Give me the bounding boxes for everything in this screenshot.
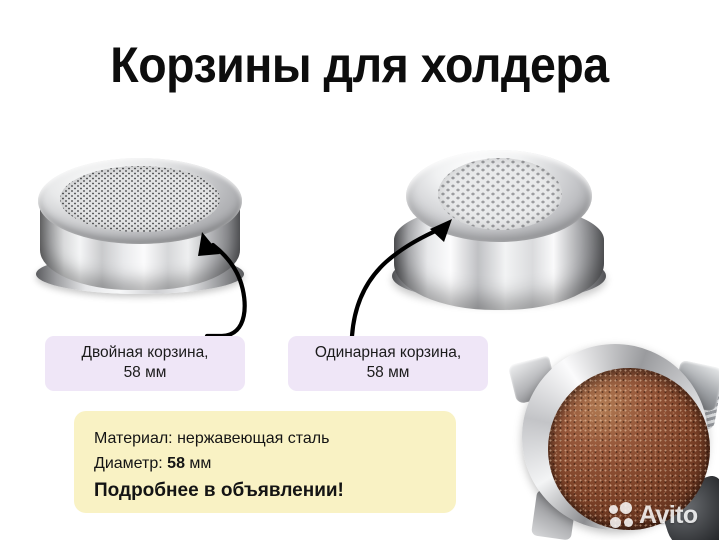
- page-title: Корзины для холдера: [25, 36, 694, 94]
- info-cta-text: Подробнее в объявлении!: [94, 477, 456, 505]
- avito-watermark: Avito: [609, 500, 713, 532]
- callout-single-line2: 58 мм: [300, 363, 476, 383]
- info-diameter-unit: мм: [189, 455, 211, 472]
- info-diameter-value: 58: [167, 455, 185, 472]
- callout-double-basket: Двойная корзина, 58 мм: [45, 336, 245, 391]
- product-listing-image: Корзины для холдера Двойная корзина, 58 …: [0, 0, 719, 540]
- info-diameter-row: Диаметр: 58 мм: [94, 451, 456, 476]
- avito-watermark-text: Avito: [639, 500, 698, 530]
- info-card: Материал: нержавеющая сталь Диаметр: 58 …: [74, 411, 456, 513]
- info-material-row: Материал: нержавеющая сталь: [94, 426, 456, 451]
- callout-single-basket: Одинарная корзина, 58 мм: [288, 336, 488, 391]
- info-material-value: нержавеющая сталь: [177, 430, 329, 447]
- info-diameter-label: Диаметр:: [94, 455, 163, 472]
- avito-logo-icon: [609, 502, 637, 530]
- double-basket-arrow-icon: [178, 228, 298, 340]
- callout-double-line2: 58 мм: [57, 363, 233, 383]
- callout-single-line1: Одинарная корзина,: [300, 343, 476, 363]
- double-basket-mesh: [60, 166, 220, 232]
- info-material-label: Материал:: [94, 430, 173, 447]
- single-basket-arrow-icon: [348, 216, 472, 340]
- callout-double-line1: Двойная корзина,: [57, 343, 233, 363]
